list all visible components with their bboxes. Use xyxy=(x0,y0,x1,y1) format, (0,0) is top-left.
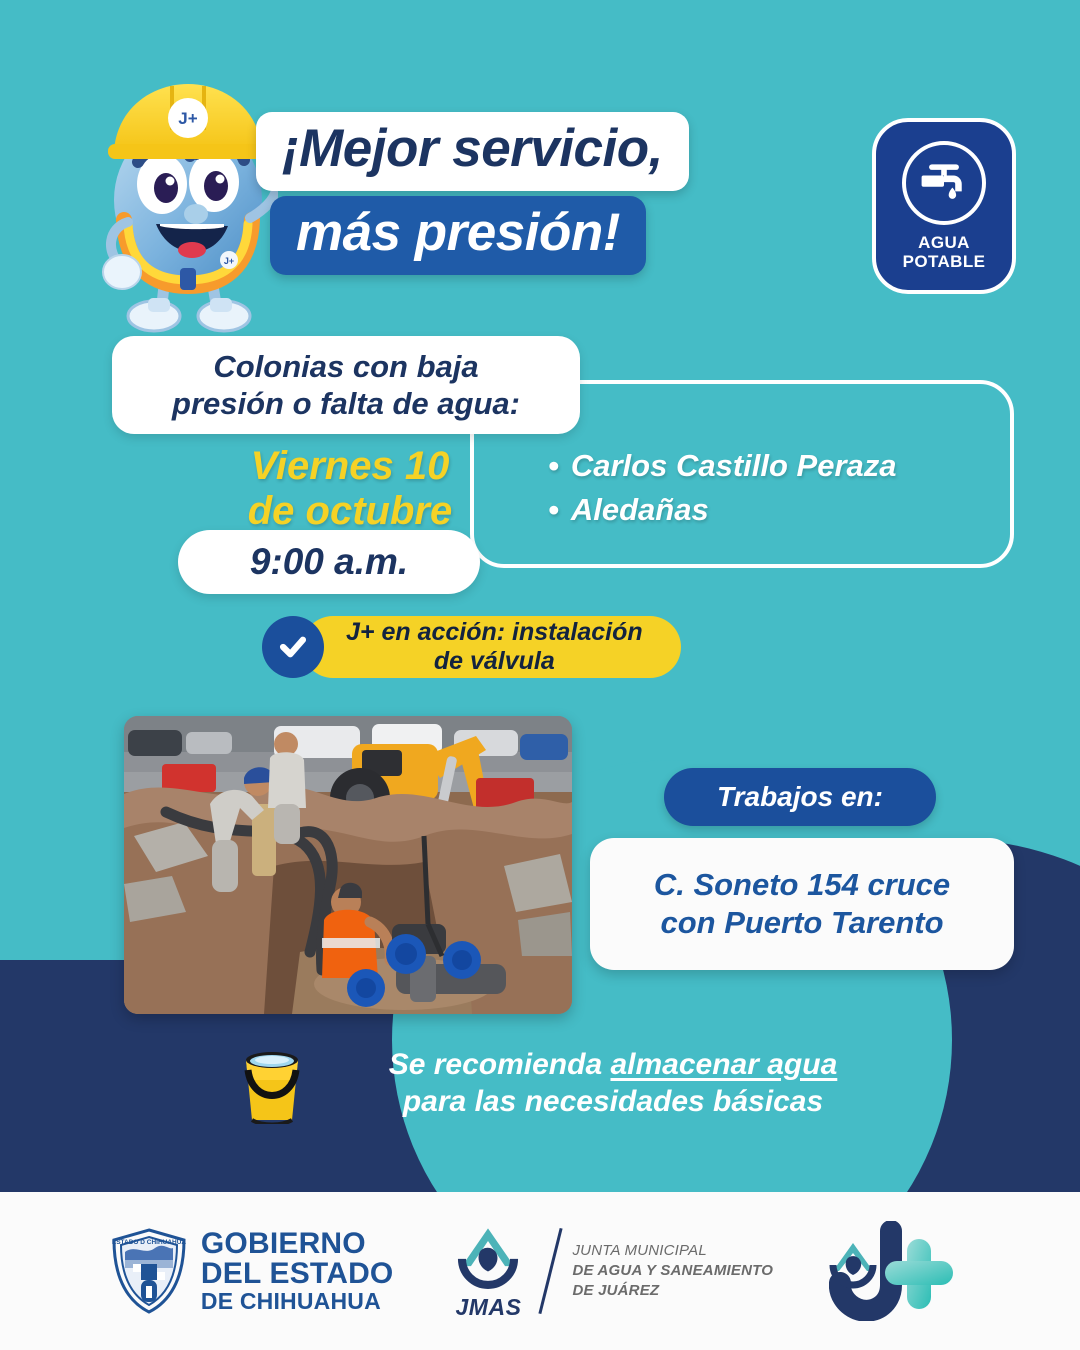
action-pill: J+ en acción: instalación de válvula xyxy=(302,616,681,678)
works-label: Trabajos en: xyxy=(717,781,883,813)
badge-label-line-1: AGUA xyxy=(903,233,986,252)
badge-label-line-2: POTABLE xyxy=(903,252,986,271)
works-address: C. Soneto 154 cruce con Puerto Tarento xyxy=(654,866,950,942)
gobierno-logo: ESTADO D CHIHUAHUA GOBIERNO DEL ESTADO D… xyxy=(111,1228,394,1314)
agua-potable-badge: AGUA POTABLE xyxy=(872,118,1016,294)
date-line-2: de octubre xyxy=(190,489,510,534)
service-date: Viernes 10 de octubre xyxy=(190,444,510,534)
colonias-heading-line-2: presión o falta de agua: xyxy=(172,386,520,421)
poster-title: ¡Mejor servicio, más presión! xyxy=(256,112,856,292)
gobierno-line-2: DEL ESTADO xyxy=(201,1259,394,1290)
colonias-heading-card: Colonias con baja presión o falta de agu… xyxy=(112,336,580,434)
water-drop-mascot-icon: J+ J+ xyxy=(98,72,278,334)
worksite-photo xyxy=(124,716,572,1014)
service-time-pill: 9:00 a.m. xyxy=(178,530,480,594)
list-item: • Carlos Castillo Peraza xyxy=(548,444,1018,488)
list-item: • Aledañas xyxy=(548,488,1018,532)
colonias-heading-line-1: Colonias con baja xyxy=(213,349,478,384)
works-label-pill: Trabajos en: xyxy=(664,768,936,826)
badge-label: AGUA POTABLE xyxy=(903,233,986,271)
jmas-logo: JMAS JUNTA MUNICIPAL DE AGUA Y SANEAMIEN… xyxy=(449,1223,773,1319)
title-line-1: ¡Mejor servicio, xyxy=(256,112,689,191)
recommendation-row: Se recomienda almacenar agua para las ne… xyxy=(236,1042,896,1124)
recommendation-line-2: para las necesidades básicas xyxy=(403,1085,823,1118)
colonia-name: Carlos Castillo Peraza xyxy=(571,444,897,488)
date-line-1: Viernes 10 xyxy=(190,444,510,489)
poster-canvas: J+ J+ ¡ xyxy=(0,0,1080,1350)
jmas-wordmark: JMAS xyxy=(449,1294,527,1321)
check-circle-icon xyxy=(262,616,324,678)
jmas-tagline: JUNTA MUNICIPAL DE AGUA Y SANEAMIENTO DE… xyxy=(572,1241,773,1302)
bullet-icon: • xyxy=(548,488,559,532)
water-bucket-icon xyxy=(236,1042,308,1124)
bullet-icon: • xyxy=(548,444,559,488)
title-line-2: más presión! xyxy=(270,196,646,275)
svg-text:J+: J+ xyxy=(224,256,234,266)
action-banner: J+ en acción: instalación de válvula xyxy=(262,616,681,678)
svg-text:J+: J+ xyxy=(178,109,197,128)
colonias-list: • Carlos Castillo Peraza • Aledañas xyxy=(548,444,1018,532)
footer-logos: ESTADO D CHIHUAHUA GOBIERNO DEL ESTADO D… xyxy=(0,1192,1080,1350)
recommendation-text: Se recomienda almacenar agua para las ne… xyxy=(330,1046,896,1121)
recommendation-line-1-pre: Se recomienda xyxy=(389,1048,611,1081)
action-line-1: J+ en acción: instalación xyxy=(346,618,643,646)
j-plus-logo-icon xyxy=(829,1221,969,1321)
colonias-heading-text: Colonias con baja presión o falta de agu… xyxy=(172,348,520,422)
jmas-line-2: DE AGUA Y SANEAMIENTO xyxy=(572,1261,773,1281)
works-address-card: C. Soneto 154 cruce con Puerto Tarento xyxy=(590,838,1014,970)
jmas-droplet-icon: JMAS xyxy=(449,1223,527,1319)
jmas-line-3: DE JUÁREZ xyxy=(572,1281,773,1301)
jmas-divider xyxy=(539,1228,563,1314)
service-time: 9:00 a.m. xyxy=(250,541,408,583)
gobierno-line-1: GOBIERNO xyxy=(201,1229,394,1260)
action-text: J+ en acción: instalación de válvula xyxy=(346,618,643,677)
colonia-name: Aledañas xyxy=(571,488,709,532)
gobierno-wordmark: GOBIERNO DEL ESTADO DE CHIHUAHUA xyxy=(201,1229,394,1314)
action-line-2: de válvula xyxy=(434,647,555,675)
chihuahua-shield-icon: ESTADO D CHIHUAHUA xyxy=(111,1228,187,1314)
address-line-2: con Puerto Tarento xyxy=(660,905,943,940)
address-line-1: C. Soneto 154 cruce xyxy=(654,867,950,902)
jmas-line-1: JUNTA MUNICIPAL xyxy=(572,1241,773,1261)
svg-text:ESTADO D CHIHUAHUA: ESTADO D CHIHUAHUA xyxy=(112,1239,187,1246)
faucet-icon xyxy=(902,141,986,225)
gobierno-line-3: DE CHIHUAHUA xyxy=(201,1290,394,1313)
recommendation-line-1-underlined: almacenar agua xyxy=(610,1048,837,1081)
